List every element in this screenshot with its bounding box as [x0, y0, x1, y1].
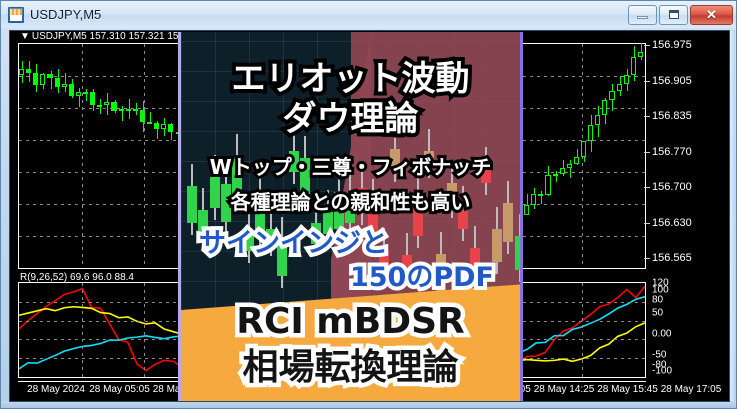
- grid-line-vertical: [82, 44, 83, 268]
- indicator-label: R(9,26,52) 69.6 96.0 88.4: [20, 272, 134, 283]
- price-tick: 156.630: [652, 217, 692, 229]
- chart-canvas: ▼USDJPY,M5 157.310 157.321 157. 156.9751…: [10, 31, 729, 401]
- collapse-chevron-icon[interactable]: ▼: [20, 31, 30, 42]
- indicator-tick: 50: [652, 308, 663, 319]
- window-bottom-frame: [1, 401, 737, 408]
- indicator-tick: 80: [652, 295, 663, 306]
- grid-line-vertical: [582, 283, 583, 377]
- overlay-footer-1: RCI mBDSRRCI mBDSR: [181, 304, 520, 340]
- price-tick: 156.565: [652, 252, 692, 264]
- price-tick: 156.835: [652, 110, 692, 122]
- overlay-subline-2: 各種理論との親和性も高い各種理論との親和性も高い: [181, 192, 520, 212]
- time-tick: 28 May 15:45: [597, 384, 658, 395]
- close-button[interactable]: ✕: [690, 5, 733, 25]
- mt4-chart-window: USDJPY,M5 ✕ ▼USDJPY,M5 157.310 157.321 1…: [0, 0, 737, 409]
- grid-line-vertical: [144, 283, 145, 377]
- promo-overlay: エリオット波動エリオット波動 ダウ理論ダウ理論 Wトップ・三尊・フィボナッチWト…: [178, 32, 523, 402]
- overlay-headline-2: ダウ理論ダウ理論: [181, 102, 520, 136]
- price-tick: 156.770: [652, 146, 692, 158]
- window-title-bar[interactable]: USDJPY,M5 ✕: [1, 1, 737, 28]
- time-tick: 28 May 2024: [27, 384, 85, 395]
- indicator-axis[interactable]: 12010080500.00-50-80-100: [646, 272, 730, 379]
- price-tick: 156.905: [652, 75, 692, 87]
- overlay-blue-1: サインインジとサインインジと: [181, 230, 520, 257]
- overlay-subline-1: Wトップ・三尊・フィボナッチWトップ・三尊・フィボナッチ: [181, 157, 520, 177]
- overlay-blue-2: 150のPDF150のPDF: [181, 264, 520, 291]
- grid-line-vertical: [82, 283, 83, 377]
- price-axis[interactable]: 156.975156.905156.835156.770156.700156.6…: [646, 31, 730, 270]
- overlay-headline-1: エリオット波動エリオット波動: [181, 62, 520, 96]
- overlay-footer-2: 相場転換理論相場転換理論: [181, 350, 520, 386]
- time-tick: 28 May 05:05: [89, 384, 150, 395]
- chart-window-icon: [8, 7, 24, 23]
- minimize-button[interactable]: [628, 5, 657, 25]
- time-tick: 28 May 17:05: [661, 384, 722, 395]
- maximize-button[interactable]: [659, 5, 688, 25]
- grid-line-vertical: [144, 44, 145, 268]
- price-tick: 156.700: [652, 181, 692, 193]
- window-title: USDJPY,M5: [30, 7, 101, 22]
- window-controls: ✕: [628, 5, 737, 25]
- chart-symbol-label: ▼USDJPY,M5 157.310 157.321 157.: [20, 31, 187, 42]
- chart-client-area[interactable]: ▼USDJPY,M5 157.310 157.321 157. 156.9751…: [9, 30, 730, 402]
- price-tick: 156.975: [652, 39, 692, 51]
- indicator-tick: -100: [652, 366, 672, 377]
- time-tick: 28 May 14:25: [534, 384, 595, 395]
- indicator-tick: 0.00: [652, 329, 671, 340]
